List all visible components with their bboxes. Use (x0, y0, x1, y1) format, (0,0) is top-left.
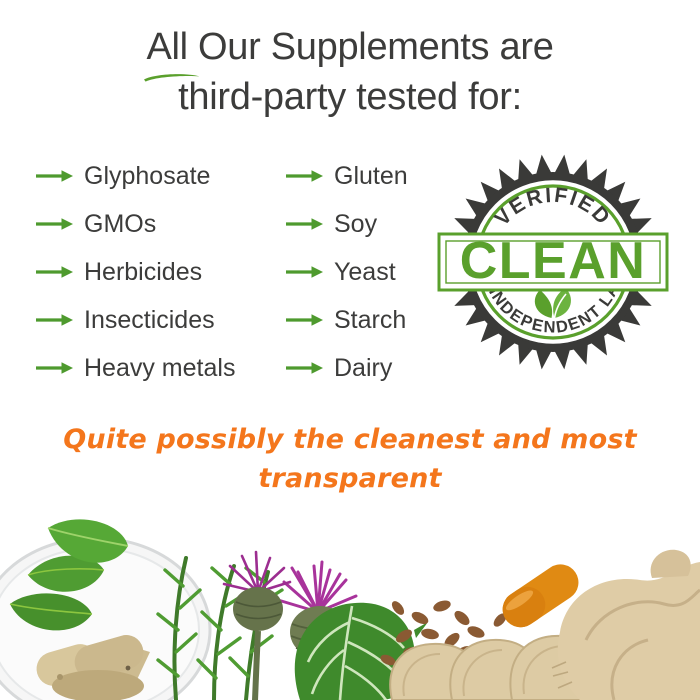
green-arrow-right-icon (286, 360, 324, 376)
promo-graphic: All Our Supplements are third-party test… (0, 0, 700, 700)
green-arrow-right-icon (36, 312, 74, 328)
list-item: Glyphosate (36, 152, 235, 200)
seal-graphic: VERIFIED BY INDEPENDENT LABS CLEAN (437, 146, 669, 378)
list-item-label: Yeast (334, 260, 396, 285)
list-item: Starch (286, 296, 408, 344)
page-title: All Our Supplements are third-party test… (0, 22, 700, 122)
tested-for-right-column: Gluten Soy Yeast Starch Dairy (286, 152, 408, 392)
list-item: Insecticides (36, 296, 235, 344)
list-item: Dairy (286, 344, 408, 392)
list-item-label: Herbicides (84, 260, 202, 285)
list-item-label: GMOs (84, 212, 156, 237)
list-item: Yeast (286, 248, 408, 296)
headline-line-1-rest: Our Supplements are (188, 26, 554, 68)
list-item-label: Dairy (334, 356, 392, 381)
green-arrow-right-icon (286, 168, 324, 184)
seal-center-band: CLEAN (439, 232, 667, 290)
tested-for-list: Glyphosate GMOs Herbicides Insecticides … (0, 152, 440, 392)
list-item: Gluten (286, 152, 408, 200)
list-item-label: Gluten (334, 164, 408, 189)
list-item: Heavy metals (36, 344, 235, 392)
green-arrow-right-icon (286, 216, 324, 232)
list-item-label: Insecticides (84, 308, 215, 333)
tested-for-left-column: Glyphosate GMOs Herbicides Insecticides … (36, 152, 235, 392)
green-arrow-right-icon (36, 216, 74, 232)
green-brush-underline-icon (143, 71, 201, 83)
verified-clean-seal: VERIFIED BY INDEPENDENT LABS CLEAN (437, 146, 669, 378)
ingredients-photo-band (0, 500, 700, 700)
green-arrow-right-icon (36, 264, 74, 280)
ingredients-illustration (0, 500, 700, 700)
headline-emphasis-word: All (146, 26, 187, 68)
list-item: Soy (286, 200, 408, 248)
list-item-label: Heavy metals (84, 356, 235, 381)
green-arrow-right-icon (286, 264, 324, 280)
list-item-label: Soy (334, 212, 377, 237)
tagline-line-1: Quite possibly the cleanest and most tra… (20, 420, 680, 498)
headline-emphasis: All (146, 22, 187, 72)
headline-line-2: third-party tested for: (0, 72, 700, 122)
seal-center-text: CLEAN (460, 232, 647, 290)
green-arrow-right-icon (36, 168, 74, 184)
headline-line-1: All Our Supplements are (0, 22, 700, 72)
list-item-label: Starch (334, 308, 406, 333)
list-item: GMOs (36, 200, 235, 248)
list-item: Herbicides (36, 248, 235, 296)
green-arrow-right-icon (286, 312, 324, 328)
list-item-label: Glyphosate (84, 164, 210, 189)
green-arrow-right-icon (36, 360, 74, 376)
